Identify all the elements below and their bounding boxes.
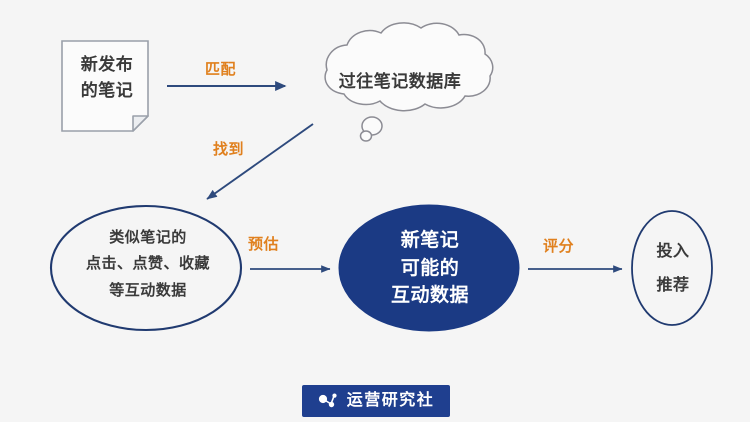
new-note-line-1: 新发布 xyxy=(64,52,150,78)
invest-line-1: 投入 xyxy=(628,235,718,269)
predicted-line-1: 新笔记 xyxy=(340,227,520,255)
predicted-line-3: 互动数据 xyxy=(340,282,520,310)
dot-cluster-icon xyxy=(318,392,340,410)
past-note-db-line-1: 过往笔记数据库 xyxy=(310,71,490,93)
past-note-db-label: 过往笔记数据库 xyxy=(310,71,490,93)
edge-found-arrow xyxy=(207,124,313,199)
edge-found-label: 找到 xyxy=(213,138,244,159)
similar-note-line-3: 等互动数据 xyxy=(48,278,248,304)
similar-note-line-1: 类似笔记的 xyxy=(48,225,248,251)
invest-line-2: 推荐 xyxy=(628,269,718,303)
similar-note-line-2: 点击、点赞、收藏 xyxy=(48,251,248,277)
edge-match-label: 匹配 xyxy=(205,58,236,79)
footer-brand-name: 运营研究社 xyxy=(347,393,435,409)
edge-predict-label: 预估 xyxy=(248,233,279,254)
similar-note-metrics-label: 类似笔记的 点击、点赞、收藏 等互动数据 xyxy=(48,225,248,304)
footer-brand-badge: 运营研究社 xyxy=(302,385,450,417)
edge-score-label: 评分 xyxy=(543,235,574,256)
predicted-engagement-label: 新笔记 可能的 互动数据 xyxy=(340,227,520,310)
new-note-document-label: 新发布 的笔记 xyxy=(64,52,150,103)
predicted-line-2: 可能的 xyxy=(340,255,520,283)
invest-recommend-label: 投入 推荐 xyxy=(628,235,718,302)
diagram-canvas: 新发布 的笔记 过往笔记数据库 类似笔记的 点击、点赞、收藏 等互动数据 新笔记… xyxy=(0,0,750,422)
new-note-line-2: 的笔记 xyxy=(64,78,150,104)
